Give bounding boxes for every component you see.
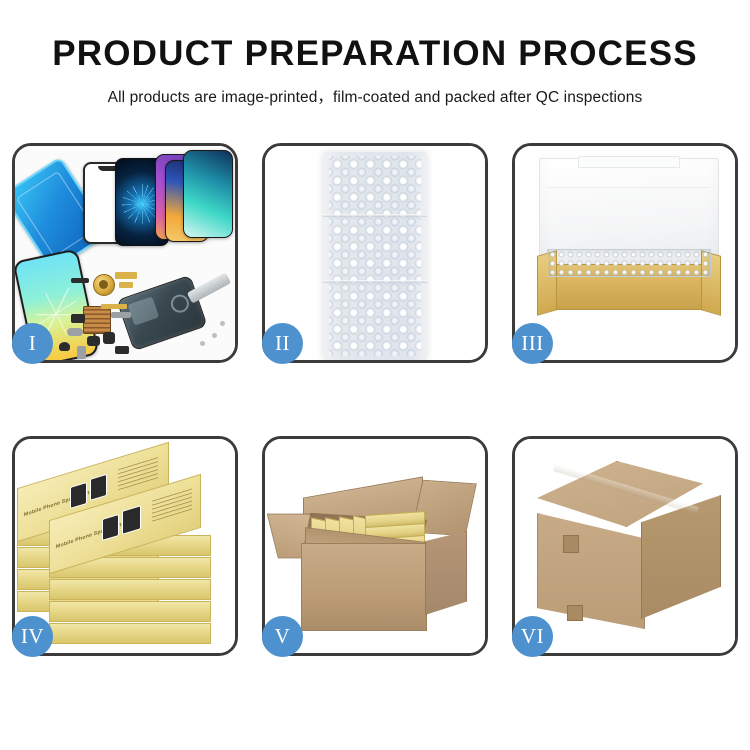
box-stack-illustration: Mobile Phone Spare Parts Mobile Phone Sp… — [15, 439, 235, 653]
step-panel-products-and-parts: I — [12, 143, 238, 363]
flex-cable-part — [101, 304, 127, 309]
phone-screen-teal — [183, 150, 233, 238]
screw-part — [220, 321, 225, 326]
retail-box-edge — [49, 579, 211, 600]
step-badge-1: I — [12, 323, 53, 364]
screen-photo — [70, 482, 87, 509]
small-part — [71, 314, 85, 323]
flex-cable-part — [115, 272, 137, 279]
page-subtitle: All products are image-printed，film-coat… — [0, 85, 750, 107]
screen-photo — [122, 505, 141, 535]
inner-box-illustration — [515, 146, 735, 360]
flex-cable-part — [119, 282, 133, 288]
step-badge-2: II — [262, 323, 303, 364]
step-badge-3: III — [512, 323, 553, 364]
wrap-seam — [323, 214, 427, 217]
tweezers-tool — [187, 272, 231, 303]
sim-tray-part — [77, 346, 86, 359]
process-steps-grid: I II — [12, 143, 738, 676]
sealed-carton-illustration — [515, 439, 735, 653]
screw-part — [200, 341, 205, 346]
speaker-part — [103, 332, 115, 344]
small-part — [67, 328, 83, 336]
retail-box-edge — [49, 623, 211, 644]
chip-grid-part — [83, 306, 111, 334]
step-image-boxed-stack: Mobile Phone Spare Parts Mobile Phone Sp… — [15, 439, 235, 653]
step-badge-5: V — [262, 616, 303, 657]
bubble-wrapped-product — [323, 152, 427, 360]
wrap-seam — [323, 280, 427, 283]
carton-front-face — [537, 513, 645, 629]
kraft-box-tray — [537, 264, 721, 310]
screen-photo — [90, 474, 107, 501]
flex-cable-part — [111, 312, 131, 318]
carton-front-face — [301, 543, 427, 631]
step-image-carton-filling — [265, 439, 485, 653]
step-badge-6: VI — [512, 616, 553, 657]
spec-lines — [152, 488, 192, 522]
step-panel-inner-box-packing: III — [512, 143, 738, 363]
spec-lines — [118, 456, 158, 490]
product-preparation-infographic: PRODUCT PREPARATION PROCESS All products… — [0, 0, 750, 750]
step-image-products-and-parts — [15, 146, 235, 360]
small-part — [87, 336, 100, 346]
bubble-wrap-filler — [547, 249, 711, 277]
small-part — [71, 278, 89, 283]
step-image-inner-box-packing — [515, 146, 735, 360]
small-part — [59, 342, 70, 351]
phones-and-parts-illustration — [15, 146, 235, 360]
step-panel-sealed-carton: VI — [512, 436, 738, 656]
bubble-pattern-offset — [329, 156, 421, 356]
step-panel-boxed-stack: Mobile Phone Spare Parts Mobile Phone Sp… — [12, 436, 238, 656]
screen-photo — [102, 514, 119, 541]
step-image-sealed-carton — [515, 439, 735, 653]
retail-box-edge — [49, 601, 211, 622]
carton-tab — [563, 535, 579, 553]
carton-side-face — [641, 495, 721, 619]
carton-side-face — [425, 531, 467, 615]
step-image-bubble-wrap — [265, 146, 485, 360]
copper-coil-part — [93, 274, 115, 296]
step-badge-4: IV — [12, 616, 53, 657]
small-part — [115, 346, 129, 354]
carton-tab — [567, 605, 583, 621]
page-title: PRODUCT PREPARATION PROCESS — [0, 36, 750, 71]
header: PRODUCT PREPARATION PROCESS All products… — [0, 0, 750, 107]
bubble-wrap-illustration — [265, 146, 485, 360]
open-carton-illustration — [265, 439, 485, 653]
step-panel-carton-filling: V — [262, 436, 488, 656]
step-panel-bubble-wrap: II — [262, 143, 488, 363]
screw-part — [212, 333, 217, 338]
